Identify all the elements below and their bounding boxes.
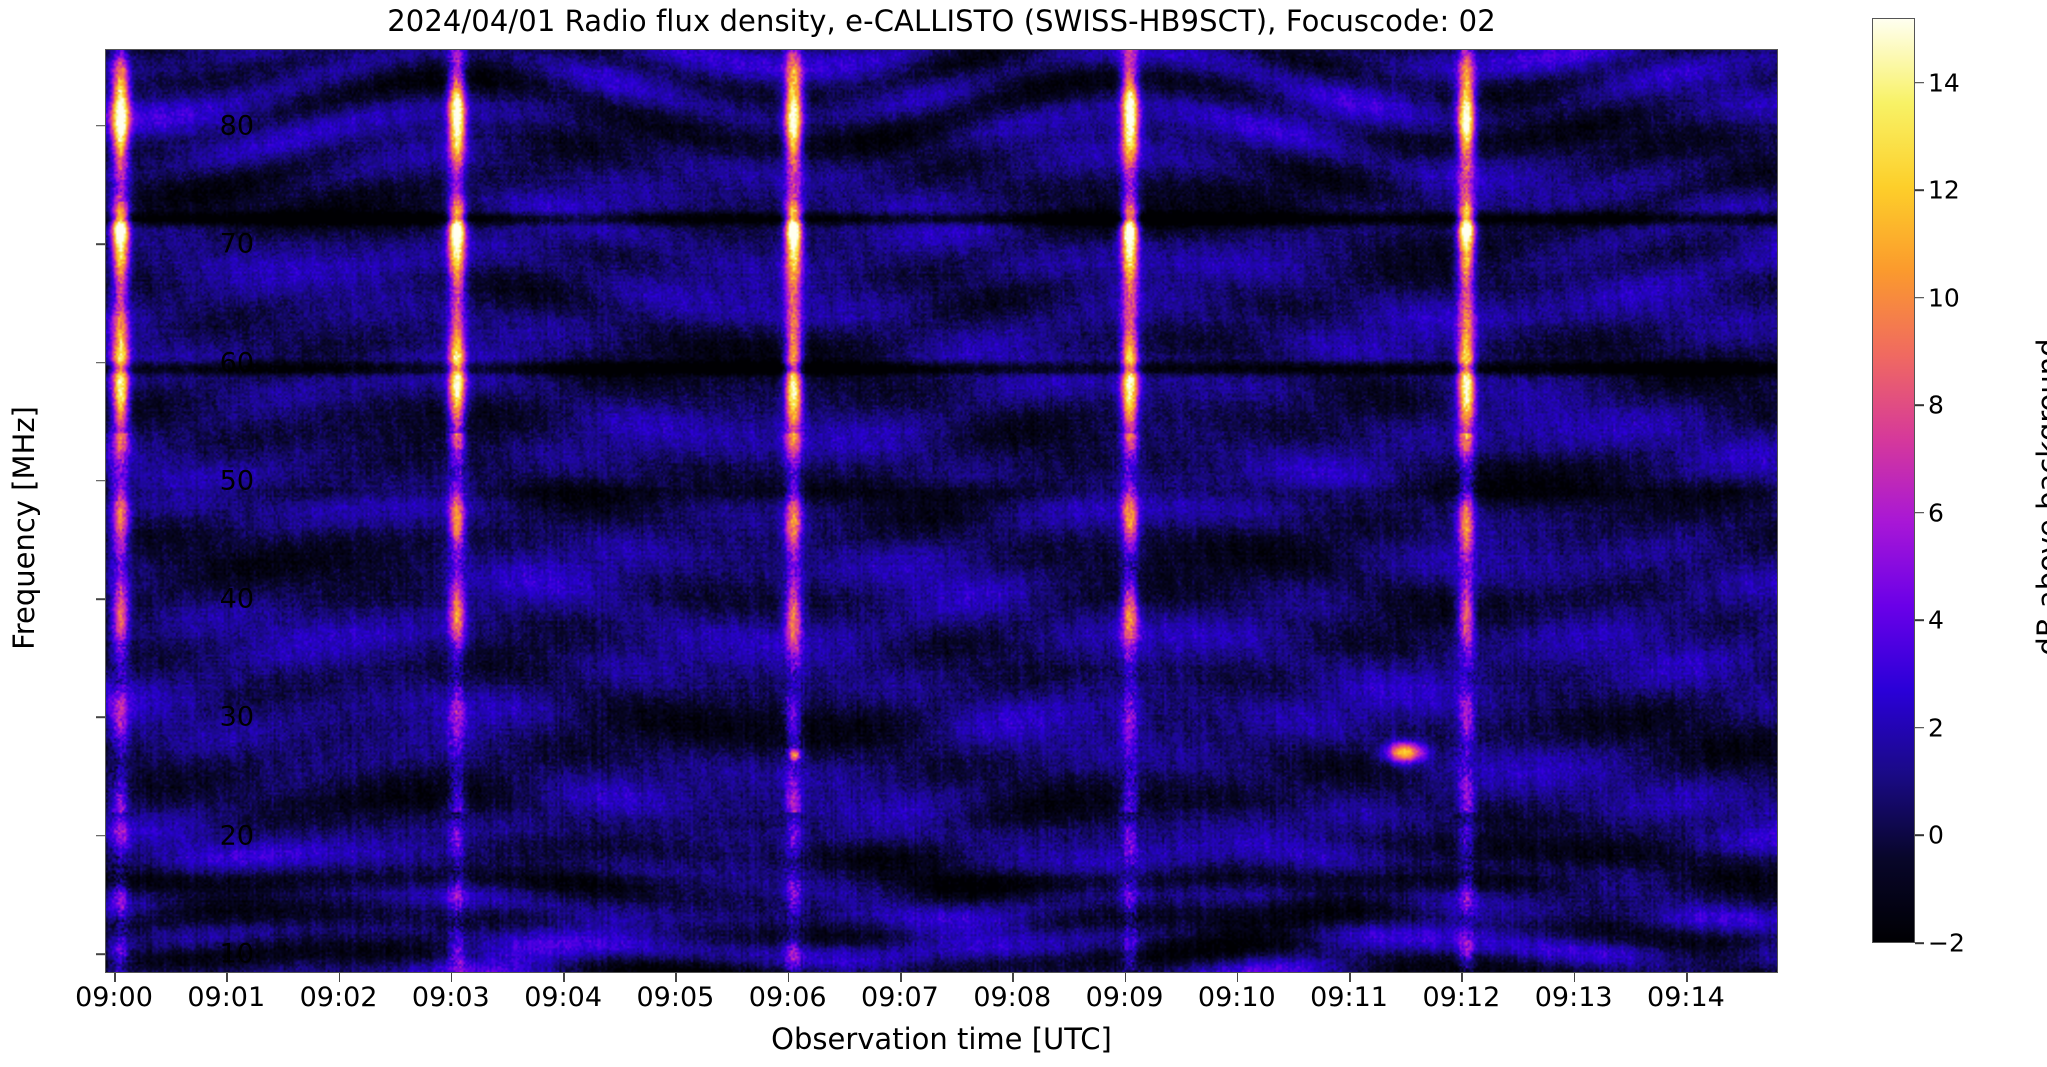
y-tick-mark bbox=[96, 362, 105, 364]
x-axis-label: Observation time [UTC] bbox=[105, 1022, 1778, 1056]
x-tick-mark bbox=[1461, 973, 1463, 982]
y-tick-label: 60 bbox=[134, 347, 254, 378]
x-tick-mark bbox=[900, 973, 902, 982]
y-tick-label: 40 bbox=[134, 584, 254, 615]
colorbar-tick-mark bbox=[1915, 297, 1924, 299]
colorbar-tick-label: 6 bbox=[1928, 498, 1944, 527]
x-tick-mark bbox=[788, 973, 790, 982]
x-tick-mark bbox=[1686, 973, 1688, 982]
x-tick-mark bbox=[114, 973, 116, 982]
colorbar-label: dB above background bbox=[2031, 217, 2047, 777]
x-tick-mark bbox=[451, 973, 453, 982]
x-tick-mark bbox=[1237, 973, 1239, 982]
colorbar-tick-label: 10 bbox=[1928, 283, 1960, 312]
colorbar-tick-label: 8 bbox=[1928, 391, 1944, 420]
colorbar-gradient bbox=[1873, 19, 1914, 942]
x-tick-mark bbox=[675, 973, 677, 982]
colorbar-tick-mark bbox=[1915, 835, 1924, 837]
y-tick-label: 80 bbox=[134, 110, 254, 141]
spectrogram-plot-area[interactable] bbox=[105, 49, 1778, 973]
y-tick-mark bbox=[96, 717, 105, 719]
colorbar-tick-label: 4 bbox=[1928, 606, 1944, 635]
y-axis-label: Frequency [MHz] bbox=[7, 308, 41, 748]
y-tick-label: 30 bbox=[134, 702, 254, 733]
y-tick-label: 50 bbox=[134, 465, 254, 496]
y-tick-label: 10 bbox=[134, 939, 254, 970]
y-tick-label: 70 bbox=[134, 229, 254, 260]
x-tick-label: 09:14 bbox=[1611, 982, 1761, 1013]
y-tick-mark bbox=[96, 480, 105, 482]
y-tick-mark bbox=[96, 598, 105, 600]
colorbar-tick-mark bbox=[1915, 942, 1924, 944]
y-tick-mark bbox=[96, 835, 105, 837]
x-tick-mark bbox=[1349, 973, 1351, 982]
colorbar-tick-mark bbox=[1915, 404, 1924, 406]
x-tick-mark bbox=[1574, 973, 1576, 982]
y-tick-mark bbox=[96, 243, 105, 245]
colorbar-tick-mark bbox=[1915, 727, 1924, 729]
colorbar-tick-label: 2 bbox=[1928, 713, 1944, 742]
x-tick-mark bbox=[563, 973, 565, 982]
colorbar-tick-label: 12 bbox=[1928, 176, 1960, 205]
colorbar-tick-label: −2 bbox=[1928, 929, 1965, 958]
y-tick-label: 20 bbox=[134, 820, 254, 851]
colorbar[interactable] bbox=[1872, 18, 1915, 943]
colorbar-tick-mark bbox=[1915, 620, 1924, 622]
x-tick-mark bbox=[339, 973, 341, 982]
colorbar-tick-mark bbox=[1915, 512, 1924, 514]
colorbar-tick-label: 14 bbox=[1928, 68, 1960, 97]
x-tick-mark bbox=[1125, 973, 1127, 982]
colorbar-tick-label: 0 bbox=[1928, 821, 1944, 850]
colorbar-tick-mark bbox=[1915, 189, 1924, 191]
x-tick-mark bbox=[1012, 973, 1014, 982]
y-tick-mark bbox=[96, 125, 105, 127]
x-tick-mark bbox=[226, 973, 228, 982]
spectrogram-image bbox=[106, 50, 1777, 972]
page-title: 2024/04/01 Radio flux density, e-CALLIST… bbox=[105, 4, 1778, 38]
colorbar-tick-mark bbox=[1915, 82, 1924, 84]
y-tick-mark bbox=[96, 953, 105, 955]
